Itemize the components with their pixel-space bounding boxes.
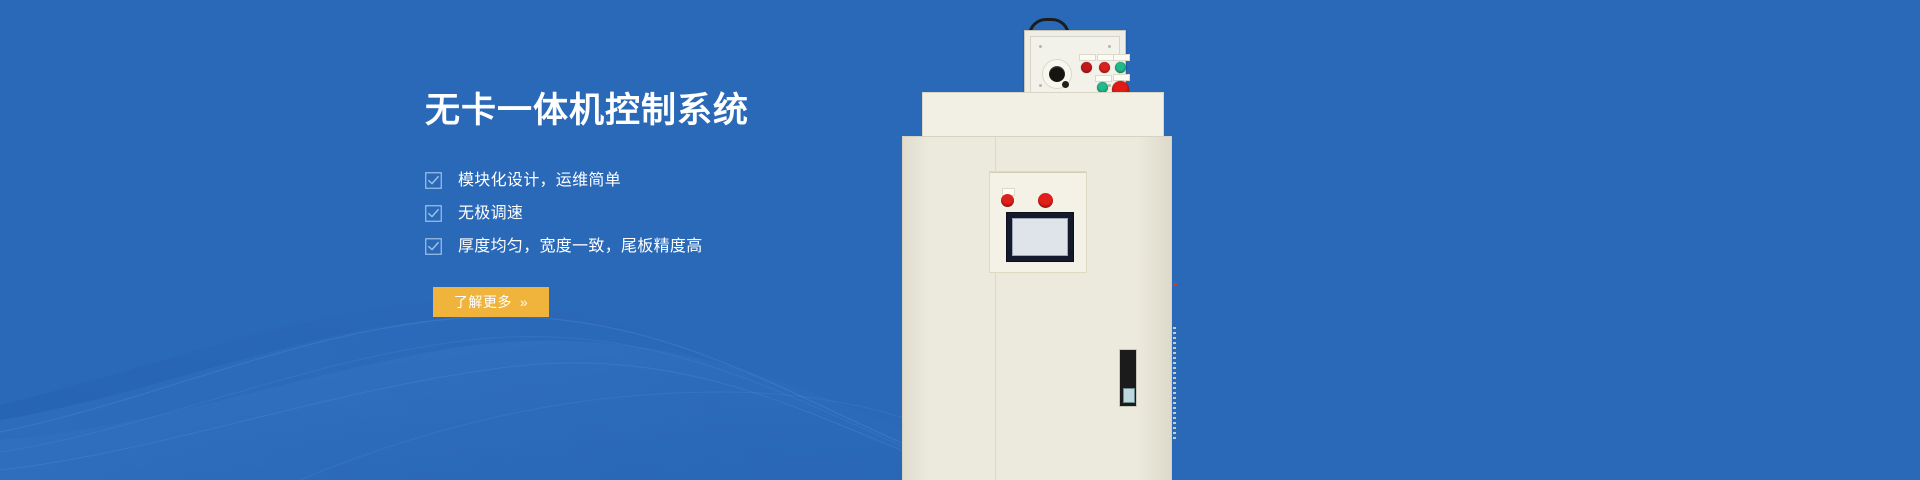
feature-label: 模块化设计，运维简单 [458, 170, 621, 192]
list-item: 无极调速 [425, 197, 985, 230]
screw-icon [1108, 45, 1111, 48]
small-black-knob[interactable] [1062, 81, 1069, 88]
learn-more-button[interactable]: 了解更多 » [433, 287, 549, 317]
hmi-touchscreen[interactable] [1006, 212, 1074, 262]
checkbox-checked-icon [425, 205, 442, 222]
control-panel-face [1030, 36, 1120, 96]
cabinet-vent-perforations [1173, 327, 1176, 442]
button-label-tag [1113, 54, 1130, 61]
front-indicator-lamp-2[interactable] [1038, 193, 1053, 208]
cabinet-right-shading [1137, 137, 1171, 480]
checkbox-checked-icon [425, 238, 442, 255]
feature-label: 无极调速 [458, 203, 523, 225]
front-indicator-lamp-1[interactable] [1001, 194, 1014, 207]
cabinet-door-handle[interactable] [1119, 349, 1137, 407]
screw-icon [1039, 84, 1042, 87]
checkbox-checked-icon [425, 172, 442, 189]
page-title: 无卡一体机控制系统 [425, 88, 985, 134]
hero-content: 无卡一体机控制系统 模块化设计，运维简单 无极 [425, 88, 985, 317]
door-lock-icon[interactable] [1123, 388, 1135, 403]
button-label-tag [1079, 54, 1096, 61]
button-label-tag [1097, 54, 1114, 61]
double-chevron-right-icon: » [520, 294, 528, 310]
hero-banner: 无卡一体机控制系统 模块化设计，运维简单 无极 [0, 0, 1920, 480]
button-label-tag [1095, 75, 1112, 82]
list-item: 厚度均匀，宽度一致，尾板精度高 [425, 230, 985, 263]
feature-list: 模块化设计，运维简单 无极调速 厚度均匀，宽 [425, 164, 985, 263]
learn-more-label: 了解更多 [454, 292, 512, 312]
hmi-screen-surface[interactable] [1012, 218, 1068, 256]
screw-icon [1039, 45, 1042, 48]
screw-icon [1108, 84, 1111, 87]
indicator-lamp-2[interactable] [1099, 62, 1110, 73]
indicator-lamp-3[interactable] [1115, 62, 1126, 73]
cabinet-side-marker [1173, 283, 1177, 286]
feature-label: 厚度均匀，宽度一致，尾板精度高 [458, 236, 703, 258]
button-label-tag [1113, 74, 1130, 81]
indicator-lamp-1[interactable] [1081, 62, 1092, 73]
list-item: 模块化设计，运维简单 [425, 164, 985, 197]
cabinet-front-recess [989, 171, 1087, 273]
